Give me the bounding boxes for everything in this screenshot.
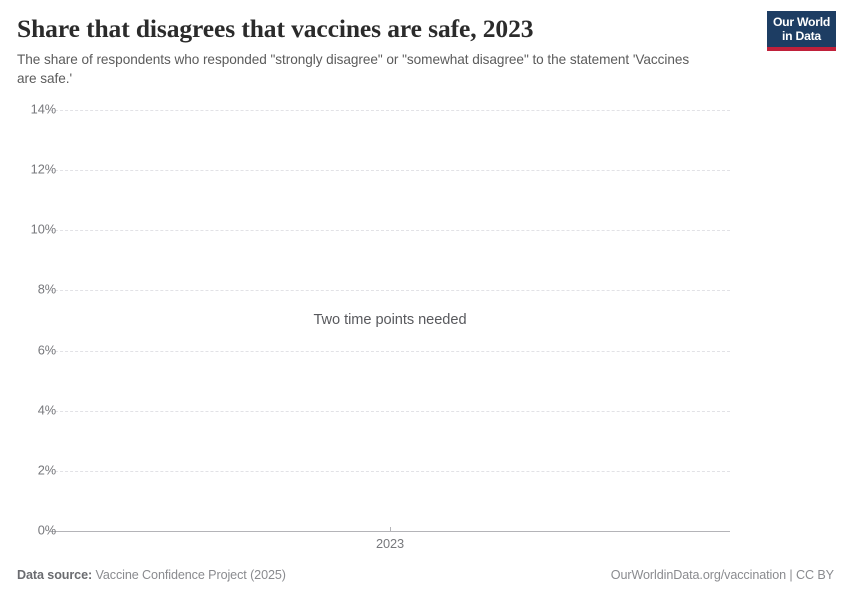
data-source: Data source: Vaccine Confidence Project … bbox=[17, 568, 286, 582]
y-axis-tick-label: 12% bbox=[10, 164, 56, 177]
page-title: Share that disagrees that vaccines are s… bbox=[17, 14, 533, 44]
our-world-in-data-logo[interactable]: Our World in Data bbox=[767, 11, 836, 51]
gridline bbox=[50, 351, 730, 353]
gridline bbox=[50, 170, 730, 172]
gridline bbox=[50, 110, 730, 112]
gridline bbox=[50, 411, 730, 413]
data-source-label: Data source: bbox=[17, 568, 92, 582]
y-axis-tick-label: 4% bbox=[10, 404, 56, 417]
chart-plot-area: 0%2%4%6%8%10%12%14% Two time points need… bbox=[0, 96, 850, 556]
x-axis: 2023 bbox=[0, 527, 850, 562]
no-data-message: Two time points needed bbox=[50, 312, 730, 328]
gridline bbox=[50, 230, 730, 232]
chart-footer: Data source: Vaccine Confidence Project … bbox=[0, 566, 850, 600]
x-axis-tick-mark bbox=[390, 527, 391, 532]
gridline bbox=[50, 471, 730, 473]
chart-subtitle: The share of respondents who responded "… bbox=[17, 50, 707, 88]
logo-line-2: in Data bbox=[782, 29, 821, 43]
y-axis-tick-label: 14% bbox=[10, 104, 56, 117]
logo-line-1: Our World bbox=[773, 15, 830, 29]
x-axis-tick-label: 2023 bbox=[376, 536, 404, 551]
y-axis-tick-label: 6% bbox=[10, 344, 56, 357]
chart-header: Share that disagrees that vaccines are s… bbox=[0, 0, 850, 96]
attribution-link[interactable]: OurWorldinData.org/vaccination | CC BY bbox=[611, 568, 834, 582]
data-source-value: Vaccine Confidence Project (2025) bbox=[92, 568, 286, 582]
gridline bbox=[50, 290, 730, 292]
y-axis-tick-label: 10% bbox=[10, 224, 56, 237]
y-axis-tick-label: 2% bbox=[10, 464, 56, 477]
y-axis-tick-label: 8% bbox=[10, 284, 56, 297]
